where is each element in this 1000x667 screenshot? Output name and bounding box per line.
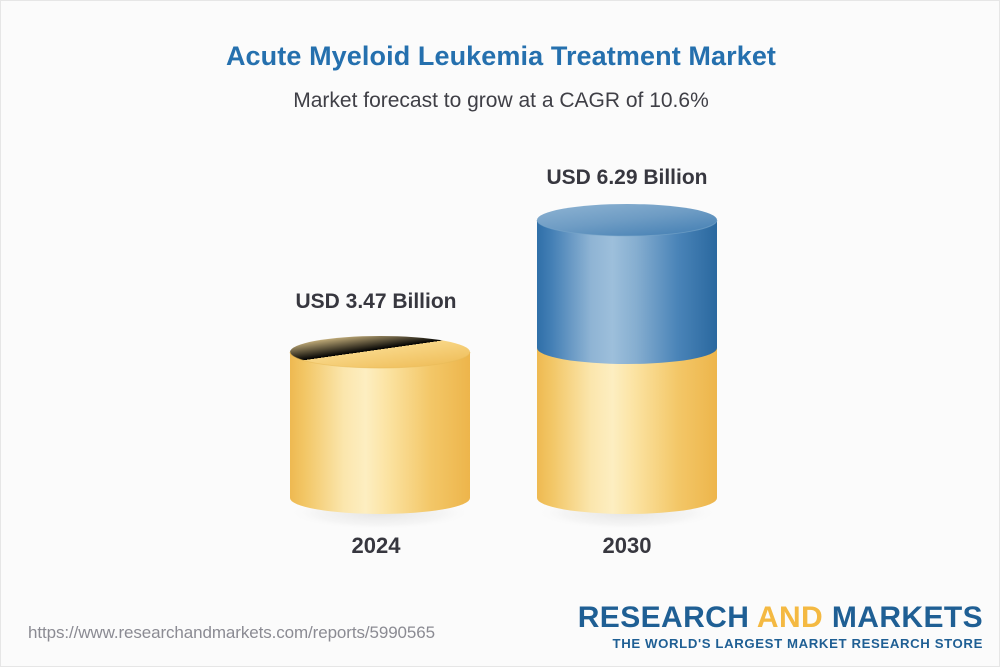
bar-body-base-2030 (537, 348, 717, 514)
value-label-2024: USD 3.47 Billion (196, 290, 556, 314)
value-label-2030: USD 6.29 Billion (447, 166, 807, 190)
bar-body-2024 (290, 352, 470, 514)
bar-body-growth-2030 (537, 220, 717, 364)
cylinder-bars-chart (1, 1, 1000, 667)
brand-word-markets: MARKETS (832, 601, 983, 634)
brand-logo[interactable]: RESEARCH AND MARKETS THE WORLD'S LARGEST… (578, 602, 983, 651)
category-label-2030: 2030 (447, 533, 807, 559)
brand-tagline: THE WORLD'S LARGEST MARKET RESEARCH STOR… (578, 636, 983, 652)
source-url-link[interactable]: https://www.researchandmarkets.com/repor… (28, 623, 435, 643)
brand-word-research: RESEARCH (578, 601, 757, 634)
chart-canvas: Acute Myeloid Leukemia Treatment Market … (0, 0, 1000, 667)
bar-cylinder-2024[interactable] (290, 336, 470, 514)
bar-cylinder-2030[interactable] (537, 204, 717, 514)
brand-wordmark: RESEARCH AND MARKETS (578, 602, 983, 634)
brand-word-and: AND (757, 601, 832, 634)
